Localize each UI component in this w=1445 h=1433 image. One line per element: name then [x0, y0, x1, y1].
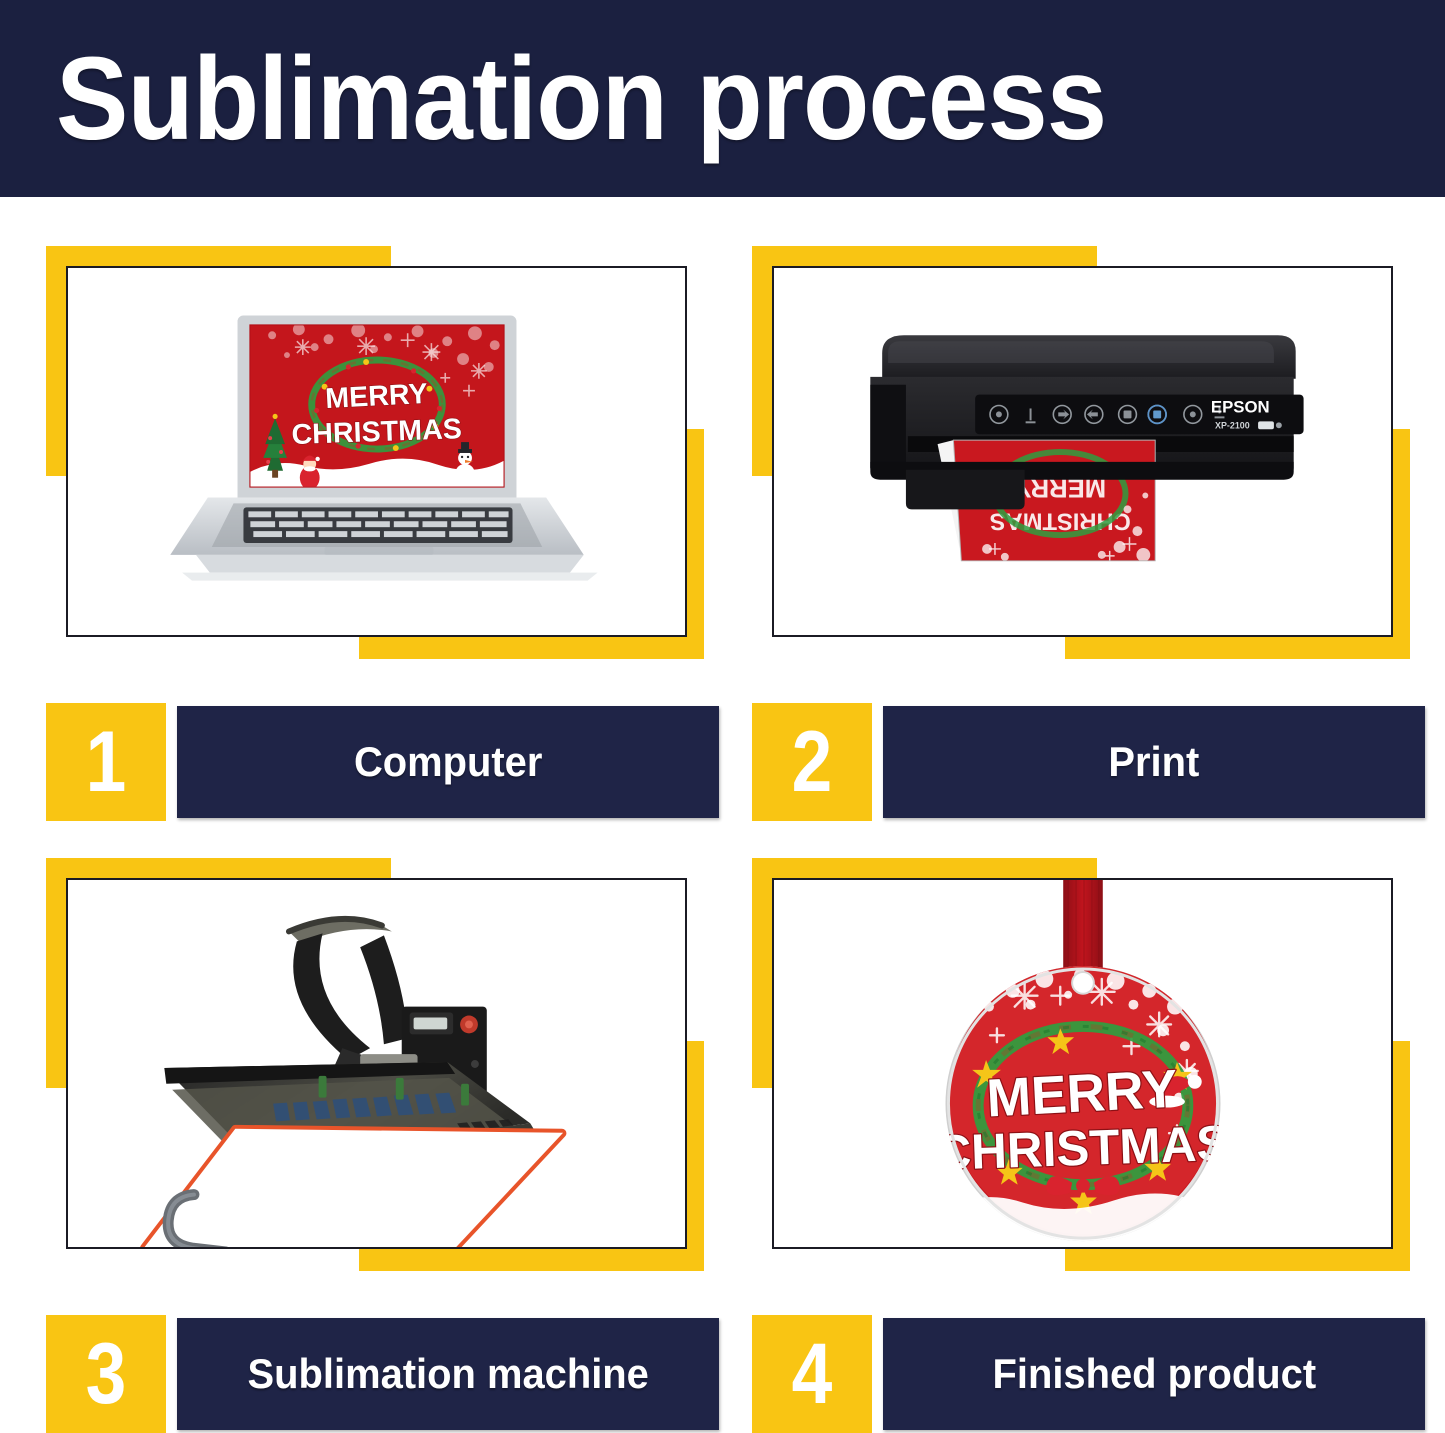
svg-text:MERRY: MERRY	[325, 378, 429, 415]
step-number-box-4: 4	[752, 1315, 872, 1433]
step-card-3: 3 Sublimation machine	[29, 825, 735, 1433]
photo-frame-4: MERRY CHRISTMAS	[735, 825, 1425, 1271]
step-card-2: EPSON XP-2100 MERRY CHRISTMAS	[735, 213, 1441, 821]
step-card-1: MERRY CHRISTMAS	[29, 213, 735, 821]
step-card-4: MERRY CHRISTMAS 4 Finished pr	[735, 825, 1441, 1433]
step-label-1: 1 Computer	[46, 703, 719, 821]
printer-brand-text: EPSON	[1211, 397, 1270, 416]
step-name-bar-3: Sublimation machine	[177, 1318, 719, 1430]
ornament-headline-bottom: CHRISTMAS	[935, 1116, 1231, 1181]
step-name-1: Computer	[354, 741, 542, 783]
photo-frame-3	[29, 825, 719, 1271]
step-number-box-3: 3	[46, 1315, 166, 1433]
step-number-2: 2	[792, 719, 833, 805]
step-number-4: 4	[792, 1331, 833, 1417]
photo-frame-2: EPSON XP-2100 MERRY CHRISTMAS	[735, 213, 1425, 659]
corner-accent-top-left-horizontal	[46, 858, 391, 880]
heat-press-machine-with-platen-image	[66, 878, 687, 1249]
photo-frame-1: MERRY CHRISTMAS	[29, 213, 719, 659]
corner-accent-bottom-right-horizontal	[359, 1249, 704, 1271]
step-name-bar-2: Print	[883, 706, 1425, 818]
step-label-3: 3 Sublimation machine	[46, 1315, 719, 1433]
step-name-2: Print	[1109, 741, 1200, 783]
page-header: Sublimation process	[0, 0, 1445, 197]
step-label-4: 4 Finished product	[752, 1315, 1425, 1433]
step-name-3: Sublimation machine	[247, 1353, 648, 1395]
corner-accent-top-left-vertical	[752, 858, 774, 1088]
page-title: Sublimation process	[56, 40, 1106, 158]
corner-accent-top-left-vertical	[46, 246, 68, 476]
step-name-bar-1: Computer	[177, 706, 719, 818]
laptop-with-christmas-design-image: MERRY CHRISTMAS	[66, 266, 687, 637]
corner-accent-top-left-horizontal	[752, 858, 1097, 880]
corner-accent-top-left-vertical	[46, 858, 68, 1088]
step-number-box-2: 2	[752, 703, 872, 821]
printer-model-text: XP-2100	[1215, 420, 1250, 430]
step-name-bar-4: Finished product	[883, 1318, 1425, 1430]
steps-grid: MERRY CHRISTMAS	[0, 197, 1445, 1424]
corner-accent-top-left-horizontal	[752, 246, 1097, 268]
step-label-2: 2 Print	[752, 703, 1425, 821]
round-christmas-ornament-image: MERRY CHRISTMAS	[772, 878, 1393, 1249]
step-number-3: 3	[86, 1331, 127, 1417]
corner-accent-top-left-vertical	[752, 246, 774, 476]
corner-accent-bottom-right-horizontal	[359, 637, 704, 659]
step-number-1: 1	[86, 719, 127, 805]
corner-accent-bottom-right-horizontal	[1065, 637, 1410, 659]
corner-accent-bottom-right-horizontal	[1065, 1249, 1410, 1271]
step-number-box-1: 1	[46, 703, 166, 821]
step-name-4: Finished product	[992, 1353, 1316, 1395]
epson-printer-printing-design-image: EPSON XP-2100 MERRY CHRISTMAS	[772, 266, 1393, 637]
svg-text:CHRISTMAS: CHRISTMAS	[291, 413, 462, 451]
corner-accent-top-left-horizontal	[46, 246, 391, 268]
